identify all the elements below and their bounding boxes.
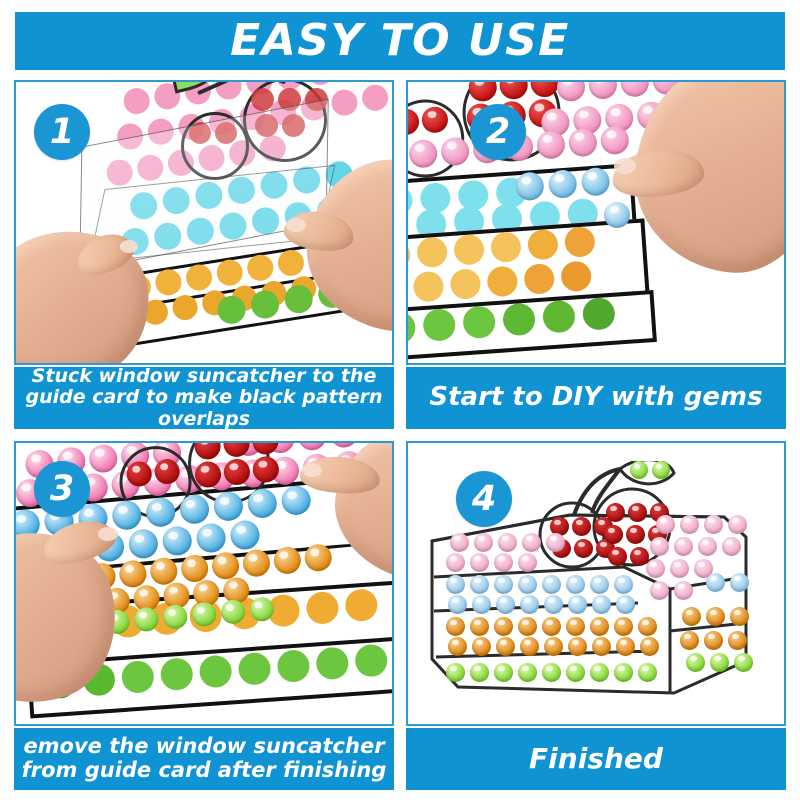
easy-to-use-infographic: EASY TO USE: [0, 0, 800, 800]
cherry-stem: [197, 82, 259, 95]
step-panel-1: 1: [14, 80, 394, 365]
orange-gem-row-4a: [446, 617, 657, 636]
pink-gem-row-4b: [656, 515, 747, 534]
orange-gem-row-4d: [680, 631, 747, 650]
step-caption-4: Finished: [406, 728, 786, 790]
step-badge-2: 2: [470, 104, 526, 160]
pink-gem-row-4c: [446, 553, 537, 572]
step-2-photo: [408, 82, 784, 363]
orange-gem-row-4b: [448, 637, 659, 656]
page-title: EASY TO USE: [230, 19, 570, 63]
blue-gem-row-4a: [446, 575, 633, 594]
step-badge-1: 1: [34, 104, 90, 160]
step-panel-4: 4: [406, 441, 786, 726]
step-caption-1: Stuck window suncatcher to the guide car…: [14, 367, 394, 429]
orange-gem-row-4c: [682, 607, 749, 626]
blue-gem-row-4b: [448, 595, 635, 614]
pink-gem-row-4a: [450, 533, 565, 552]
pink-gem-row-4d: [650, 537, 741, 556]
pink-gem-row-4f: [650, 581, 693, 600]
step-badge-3: 3: [34, 461, 90, 517]
left-hand-1: [16, 214, 170, 363]
step-badge-4: 4: [456, 471, 512, 527]
red-gem-row-3c: [126, 458, 181, 488]
blue-gem-row-4c: [706, 573, 749, 592]
left-hand-3: [16, 523, 136, 713]
header-banner: EASY TO USE: [15, 12, 785, 70]
green-gem-row-4a: [446, 663, 657, 682]
cherry-gem-row-right-3: [608, 547, 649, 566]
right-hand-3: [306, 443, 392, 599]
gem-being-placed[interactable]: [604, 202, 630, 228]
right-hand-1: [284, 160, 392, 360]
step-panel-3: 3: [14, 441, 394, 726]
right-hand-2: [616, 82, 784, 322]
leaf-gem-row: [630, 461, 670, 479]
pink-gem-row-4e: [646, 559, 713, 578]
step-panel-2: 2: [406, 80, 786, 365]
step-caption-3: emove the window suncatcher from guide c…: [14, 728, 394, 790]
red-gem-row-3: [408, 106, 449, 136]
step-caption-2: Start to DIY with gems: [406, 367, 786, 429]
green-gem-row-4b: [686, 653, 753, 672]
